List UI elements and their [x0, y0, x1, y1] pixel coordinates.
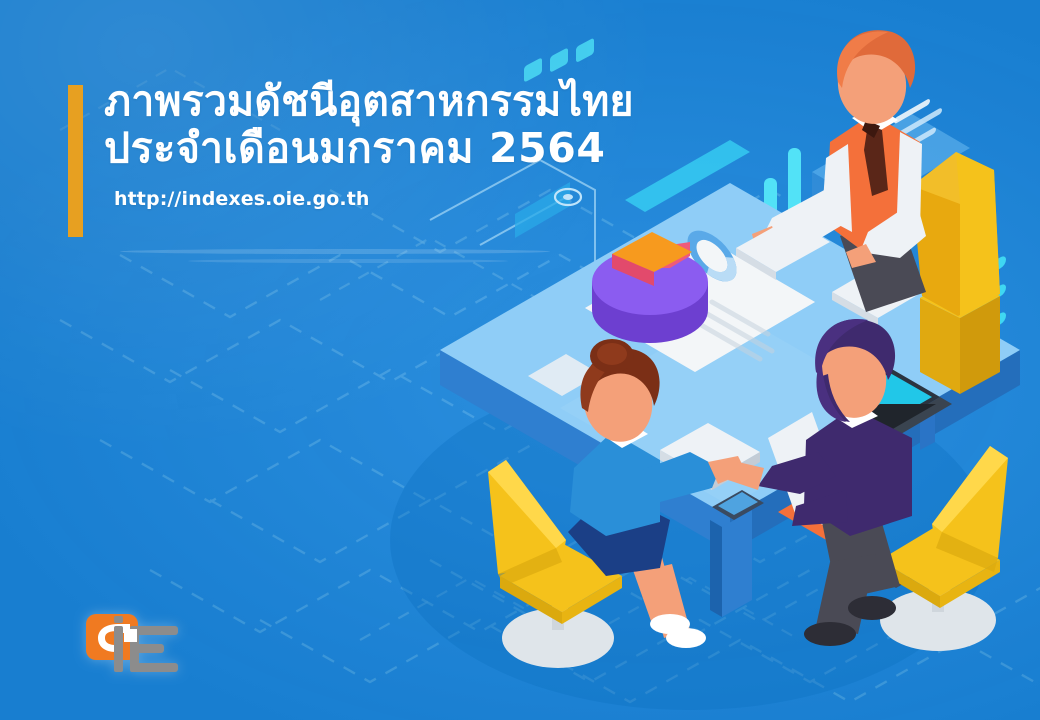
website-url[interactable]: http://indexes.oie.go.th	[114, 188, 684, 210]
title-wrap: ภาพรวมดัชนีอุตสาหกรรมไทย ประจำเดือนมกราค…	[104, 78, 684, 210]
orange-accent-bar	[68, 85, 83, 237]
slide-canvas: ภาพรวมดัชนีอุตสาหกรรมไทย ประจำเดือนมกราค…	[0, 0, 1040, 720]
header-underline-1	[120, 249, 550, 254]
page-title-line-1: ภาพรวมดัชนีอุตสาหกรรมไทย	[104, 78, 684, 125]
page-title-line-2: ประจำเดือนมกราคม 2564	[104, 125, 684, 172]
oie-logo[interactable]	[84, 606, 188, 680]
chair-yellow-top	[912, 152, 1000, 394]
header-underline-2	[188, 259, 508, 263]
